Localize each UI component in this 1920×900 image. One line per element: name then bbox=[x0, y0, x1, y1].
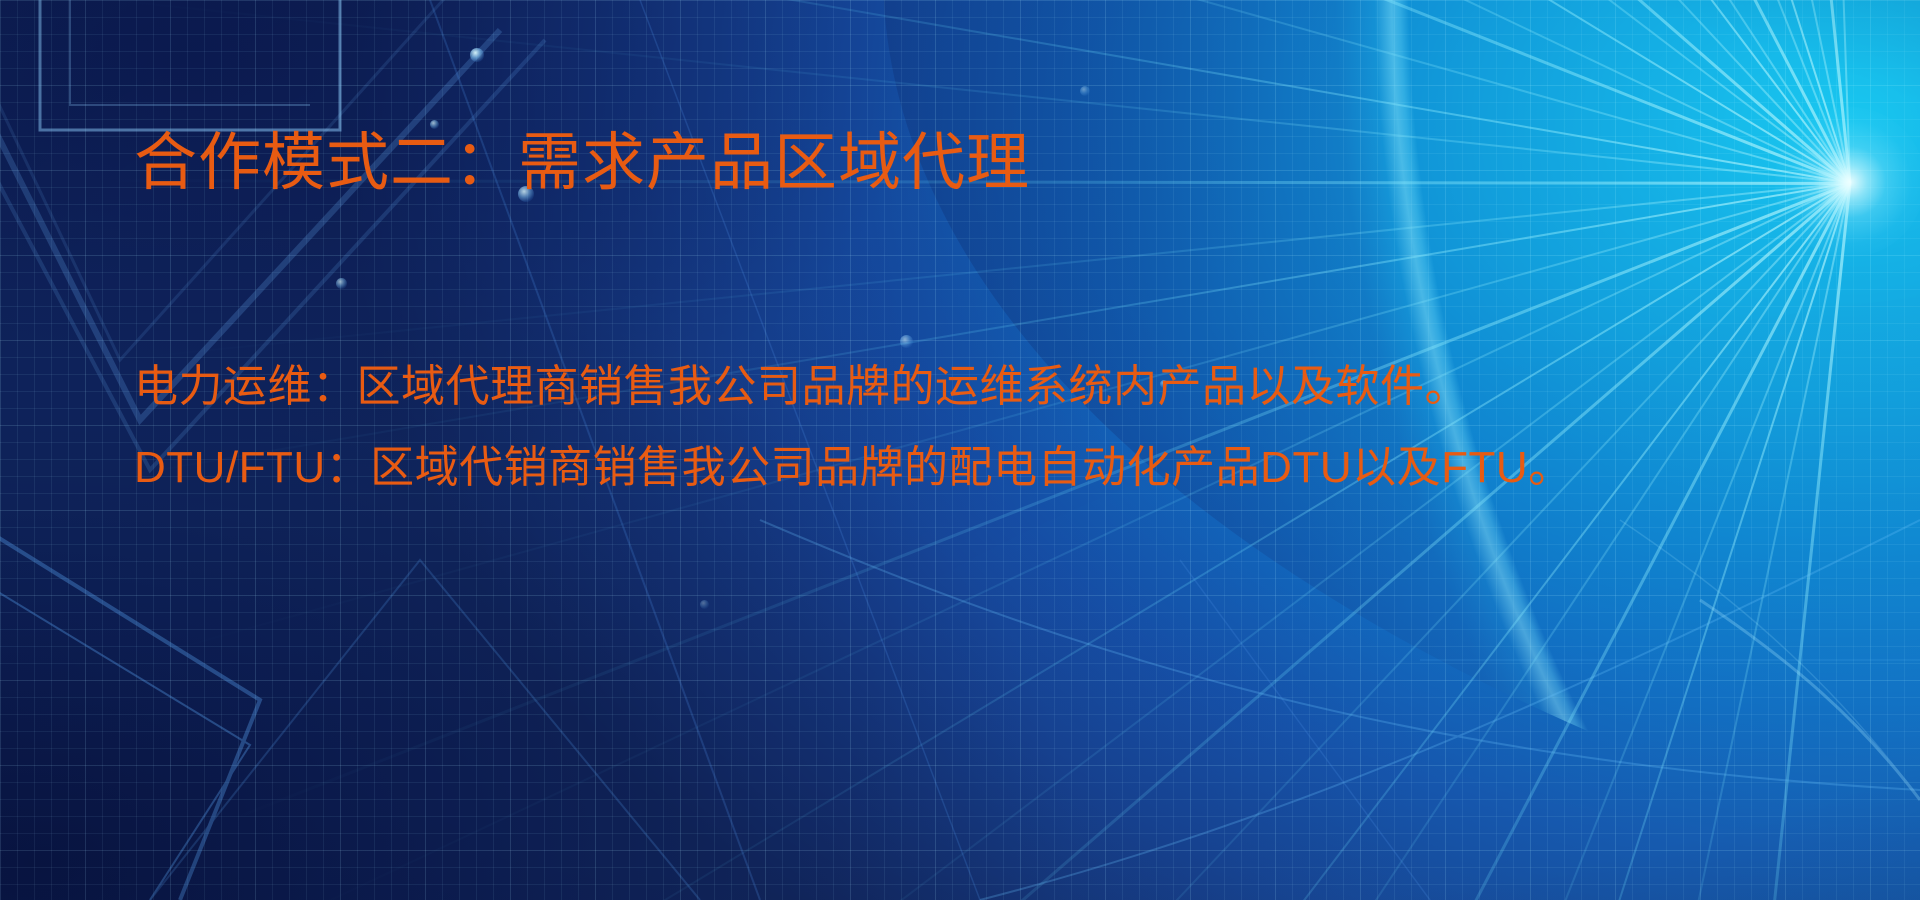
slide-canvas: 合作模式二：需求产品区域代理 电力运维：区域代理商销售我公司品牌的运维系统内产品… bbox=[0, 0, 1920, 900]
body-line-dtu-ftu: DTU/FTU：区域代销商销售我公司品牌的配电自动化产品DTU以及FTU。 bbox=[134, 439, 1834, 496]
slide-body: 电力运维：区域代理商销售我公司品牌的运维系统内产品以及软件。 DTU/FTU：区… bbox=[134, 358, 1834, 496]
body-line-power-ops: 电力运维：区域代理商销售我公司品牌的运维系统内产品以及软件。 bbox=[134, 358, 1834, 415]
slide-title: 合作模式二：需求产品区域代理 bbox=[134, 128, 1030, 199]
slide-content: 合作模式二：需求产品区域代理 电力运维：区域代理商销售我公司品牌的运维系统内产品… bbox=[0, 0, 1920, 900]
